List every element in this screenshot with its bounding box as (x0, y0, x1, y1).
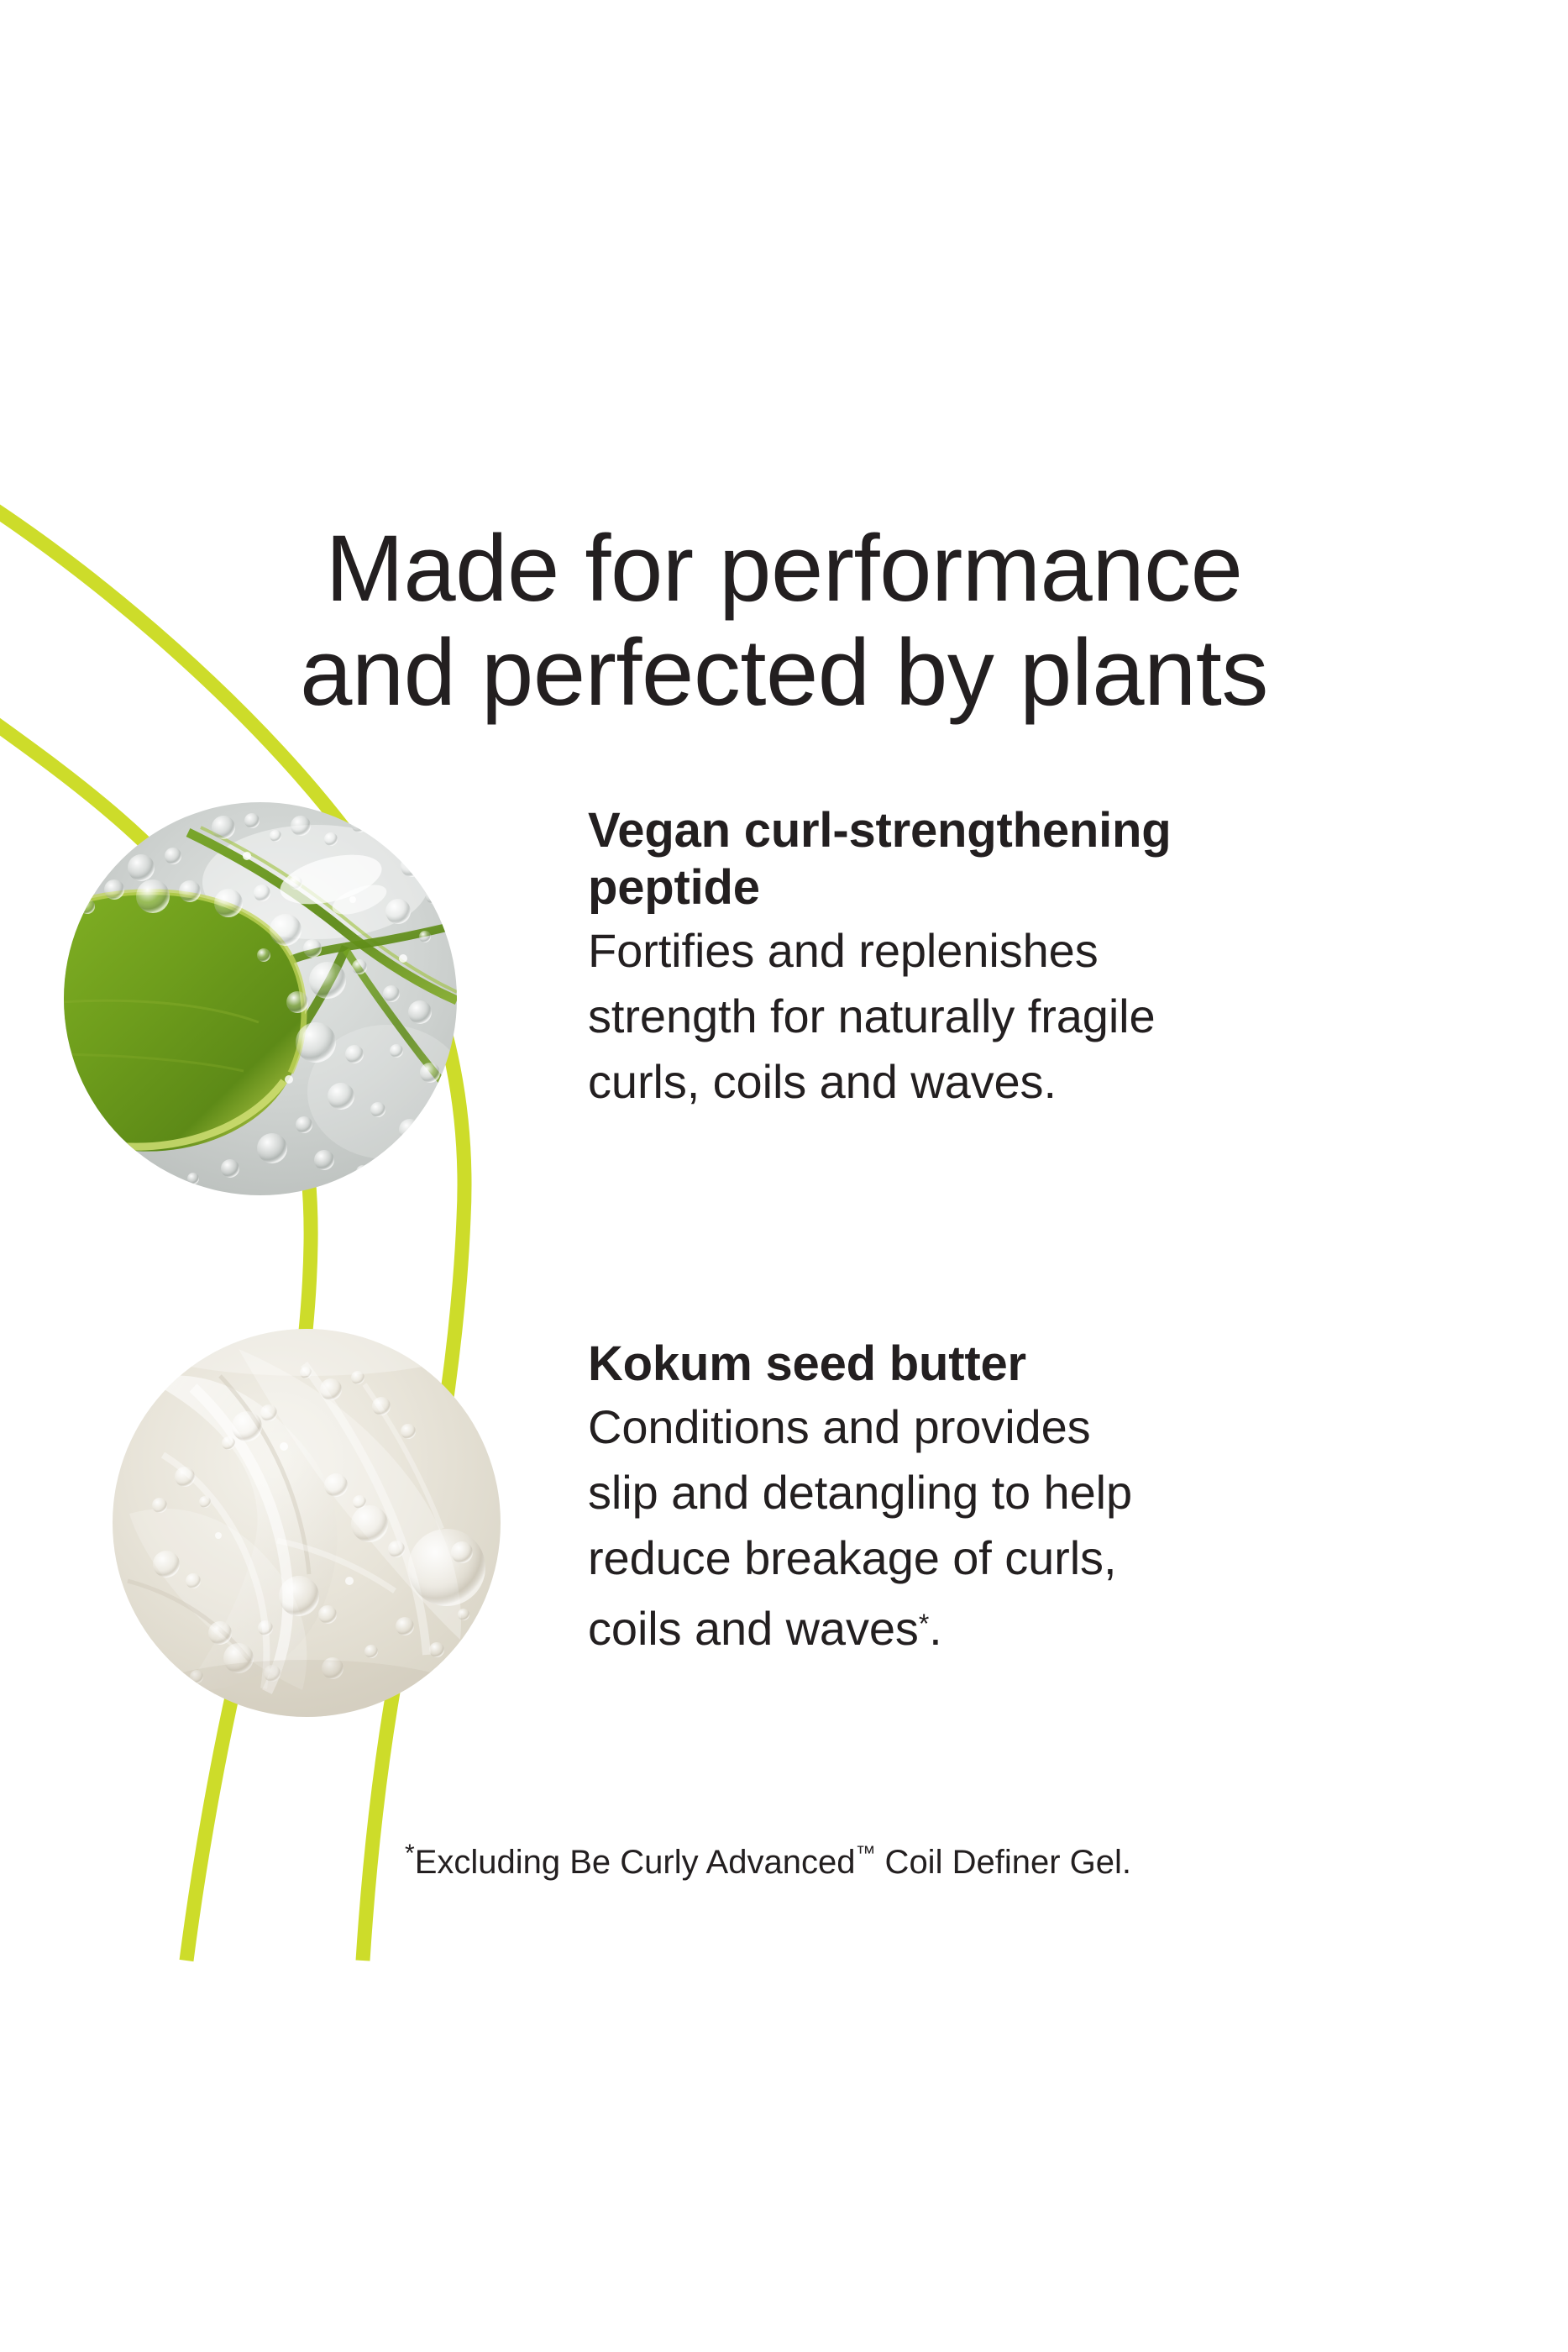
feature-desc-line-4-tail: . (929, 1602, 941, 1655)
footnote-marker: * (919, 1609, 929, 1639)
feature-description-kokum-seed-butter: Conditions and provides slip and detangl… (588, 1394, 1344, 1662)
feature-block-vegan-peptide: Vegan curl-strengthening peptide Fortifi… (588, 802, 1344, 1115)
feature-title-line-2: peptide (588, 860, 760, 915)
green-plant-in-gel-artwork (64, 802, 457, 1195)
footnote-asterisk: * (405, 1840, 415, 1867)
ingredient-image-kokum-seed-butter (113, 1329, 501, 1717)
page-title: Made for performance and perfected by pl… (0, 517, 1568, 725)
ingredient-image-vegan-peptide (64, 802, 457, 1195)
feature-desc-line-2: slip and detangling to help (588, 1466, 1132, 1519)
feature-desc-line-3: curls, coils and waves. (588, 1055, 1057, 1108)
footnote-text-before-tm: Excluding Be Curly Advanced (415, 1844, 856, 1881)
feature-title-line-1: Vegan curl-strengthening (588, 803, 1172, 858)
ingredient-benefits-panel: Made for performance and perfected by pl… (0, 0, 1568, 2352)
feature-title-kokum-seed-butter: Kokum seed butter (588, 1336, 1344, 1393)
footnote-text-after-tm: Coil Definer Gel. (875, 1844, 1131, 1881)
feature-description-vegan-peptide: Fortifies and replenishes strength for n… (588, 918, 1344, 1115)
footnote: *Excluding Be Curly Advanced™ Coil Defin… (405, 1833, 1131, 1883)
feature-desc-line-4: coils and waves (588, 1602, 919, 1655)
feature-title-vegan-peptide: Vegan curl-strengthening peptide (588, 802, 1344, 916)
feature-desc-line-2: strength for naturally fragile (588, 990, 1156, 1042)
feature-desc-line-1: Fortifies and replenishes (588, 924, 1099, 977)
stem-line-right (0, 507, 464, 1961)
page-title-line-1: Made for performance (0, 517, 1568, 621)
feature-desc-line-1: Conditions and provides (588, 1400, 1091, 1453)
feature-block-kokum-seed-butter: Kokum seed butter Conditions and provide… (588, 1336, 1344, 1662)
creamy-butter-texture-artwork (113, 1329, 501, 1717)
feature-title-line-1: Kokum seed butter (588, 1336, 1026, 1391)
trademark-icon: ™ (855, 1842, 875, 1865)
feature-desc-line-3: reduce breakage of curls, (588, 1531, 1116, 1584)
page-title-line-2: and perfected by plants (0, 621, 1568, 725)
